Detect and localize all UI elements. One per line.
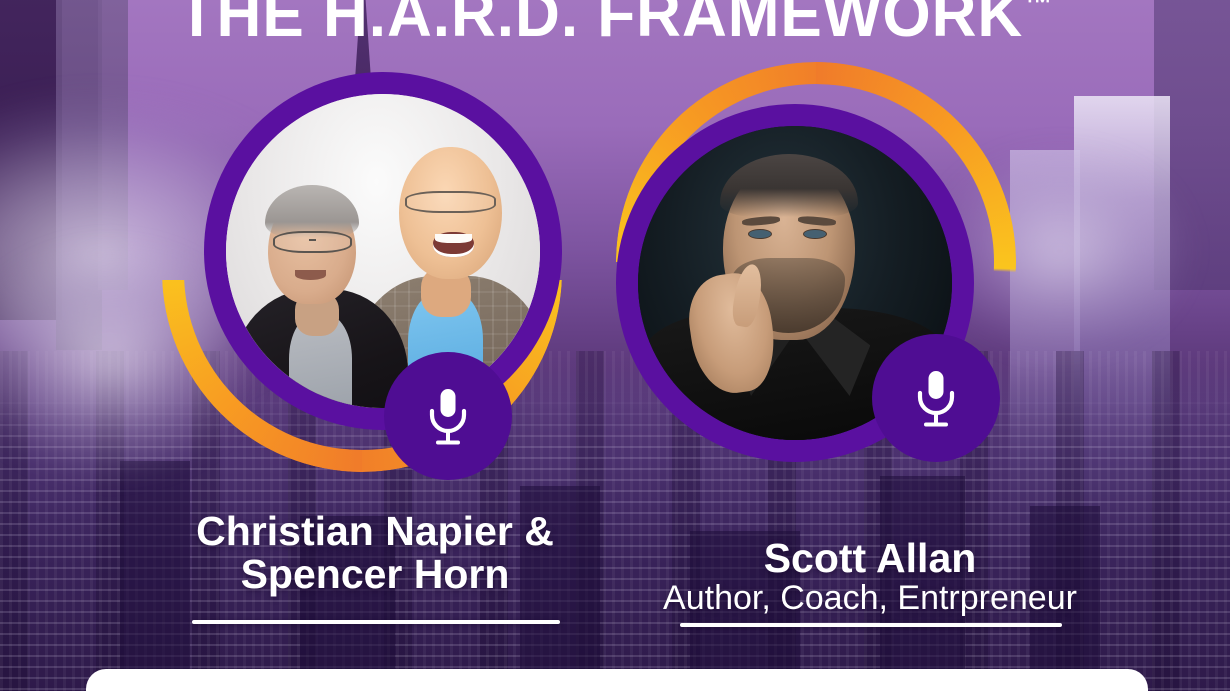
avatar-ring-left xyxy=(204,72,562,430)
trademark-symbol: ™ xyxy=(1023,0,1052,21)
microphone-badge-left[interactable] xyxy=(384,352,512,480)
speaker-name-right: Scott Allan xyxy=(620,537,1120,580)
bottom-content-panel xyxy=(86,669,1148,691)
speaker-name-left-line1: Christian Napier & xyxy=(196,508,554,554)
banner-title: THE H.A.R.D. FRAMEWORK™ xyxy=(18,0,1211,46)
microphone-badge-right[interactable] xyxy=(872,334,1000,462)
avatar-right[interactable] xyxy=(616,62,1016,462)
speaker-name-right-line1: Scott Allan xyxy=(764,535,977,581)
speaker-role-right-text: Author, Coach, Entrpreneur xyxy=(663,579,1077,617)
speaker-role-right: Author, Coach, Entrpreneur xyxy=(620,580,1120,617)
speaker-rule-right xyxy=(680,623,1062,627)
banner-title-text: THE H.A.R.D. FRAMEWORK xyxy=(178,0,1024,50)
podcast-banner: THE H.A.R.D. FRAMEWORK™ xyxy=(0,0,1230,691)
speaker-rule-left xyxy=(192,620,560,624)
microphone-icon xyxy=(914,369,958,427)
speaker-name-left-line2: Spencer Horn xyxy=(241,551,510,597)
avatar-left[interactable] xyxy=(162,72,562,472)
speaker-name-left: Christian Napier & Spencer Horn xyxy=(130,510,620,596)
microphone-icon xyxy=(426,387,470,445)
avatar-photo-left xyxy=(226,94,540,408)
